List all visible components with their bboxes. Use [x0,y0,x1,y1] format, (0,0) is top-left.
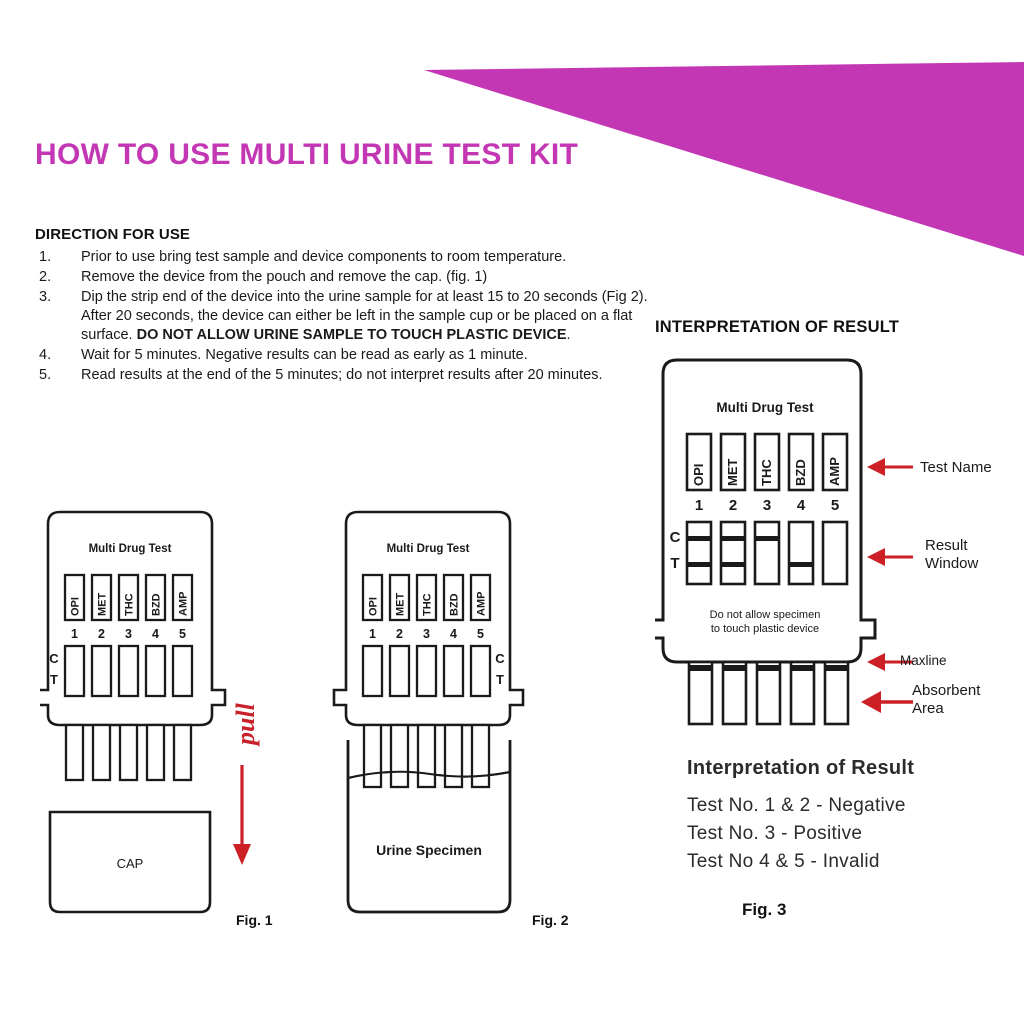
figure-3-caption: Fig. 3 [742,900,786,920]
step-text: Read results at the end of the 5 minutes… [81,366,655,385]
step-number: 5. [35,366,81,385]
test-marker: T [670,555,679,572]
specimen-label: Urine Specimen [376,842,482,858]
step-number: 4. [35,346,81,365]
result-window [65,646,84,696]
control-marker: C [49,651,59,666]
results-title: Interpretation of Result [687,757,914,780]
direction-step-1: 1. Prior to use bring test sample and de… [35,248,655,267]
absorbent-strip [418,725,435,787]
test-name-text: BZD [449,593,461,616]
callout-result-window-line2: Window [925,555,978,573]
step-text-tail: . [567,327,571,343]
figure-3-diagram: Multi Drug Test OPI MET THC BZD AMP 1 2 … [655,350,885,730]
step-text: Remove the device from the pouch and rem… [81,268,655,287]
absorbent-strip [689,662,712,724]
test-number: 1 [695,497,703,514]
directions-block: DIRECTION FOR USE 1. Prior to use bring … [35,226,655,386]
control-band [755,536,779,541]
test-band [687,562,711,567]
direction-step-2: 2. Remove the device from the pouch and … [35,268,655,287]
device-brand-label: Multi Drug Test [387,543,470,555]
arrow-left-icon [867,458,913,476]
pull-arrow-icon [233,765,251,865]
device-brand-label: Multi Drug Test [89,543,172,555]
callout-maxline: Maxline [900,653,947,669]
step-text: Dip the strip end of the device into the… [81,288,655,345]
cap-label: CAP [117,856,144,871]
result-windows [65,646,192,696]
directions-heading: DIRECTION FOR USE [35,226,655,243]
test-number: 5 [179,627,186,641]
test-number: 2 [729,497,737,514]
test-name-text: THC [759,459,774,486]
test-marker: T [50,672,58,687]
absorbent-strip [120,725,137,780]
interpretation-heading: INTERPRETATION OF RESULT [655,318,899,337]
callout-arrows [855,440,915,720]
absorbent-strip [757,662,780,724]
absorbent-strip [391,725,408,787]
absorbent-strip [472,725,489,787]
test-number: 4 [797,497,806,514]
absorbent-strips [66,725,191,780]
step-number: 3. [35,288,81,307]
test-name-text: AMP [827,457,842,486]
direction-step-4: 4. Wait for 5 minutes. Negative results … [35,346,655,365]
absorbent-strip [791,662,814,724]
direction-step-5: 5. Read results at the end of the 5 minu… [35,366,655,385]
callout-absorbent-area-line1: Absorbent [912,682,980,700]
test-name-text: OPI [368,597,380,616]
test-number: 3 [423,627,430,641]
control-marker: C [495,651,505,666]
test-name-text: BZD [793,459,808,486]
result-window [119,646,138,696]
device-brand-label: Multi Drug Test [716,400,814,415]
maxline-bar [791,665,814,671]
pull-label: pull [231,703,261,745]
absorbent-strip [445,725,462,787]
result-windows [687,522,847,584]
absorbent-strip [147,725,164,780]
test-marker: T [496,672,504,687]
arrow-left-icon [861,691,913,713]
callout-absorbent-area: Absorbent Area [912,682,980,717]
warning-line-1: Do not allow specimen [710,609,821,621]
callout-absorbent-area-line2: Area [912,700,980,718]
arrow-left-icon [867,548,913,566]
absorbent-strip [364,725,381,787]
test-number: 1 [71,627,78,641]
step-text-emphasis: DO NOT ALLOW URINE SAMPLE TO TOUCH PLAST… [137,327,567,343]
result-line-1: Test No. 1 & 2 - Negative [687,795,906,817]
callout-result-window: Result Window [925,537,978,572]
maxline-bar [757,665,780,671]
result-window [687,522,711,584]
warning-line-2: to touch plastic device [711,623,819,635]
step-text: Wait for 5 minutes. Negative results can… [81,346,655,365]
figure-2-caption: Fig. 2 [532,912,569,928]
result-window [721,522,745,584]
result-window [146,646,165,696]
result-line-3: Test No 4 & 5 - Invalid [687,851,880,873]
test-number: 2 [98,627,105,641]
test-name-text: MET [395,593,407,617]
result-window [471,646,490,696]
test-name-text: THC [422,593,434,616]
callout-test-name: Test Name [920,459,992,477]
test-band [789,562,813,567]
result-window [444,646,463,696]
test-number: 4 [152,627,159,641]
result-window [363,646,382,696]
control-band [721,536,745,541]
test-name-text: OPI [70,597,82,616]
page-title: HOW TO USE MULTI URINE TEST KIT [35,138,578,172]
absorbent-strip [174,725,191,780]
absorbent-strip [825,662,848,724]
test-name-text: MET [725,459,740,487]
absorbent-strip [723,662,746,724]
figure-2-diagram: Multi Drug Test OPI MET THC BZD AMP 1 2 … [330,500,590,920]
test-name-text: OPI [691,464,706,486]
test-number: 1 [369,627,376,641]
callout-result-window-line1: Result [925,537,978,555]
maxline-bar [825,665,848,671]
test-band [721,562,745,567]
step-number: 1. [35,248,81,267]
result-line-2: Test No. 3 - Positive [687,823,862,845]
test-number: 5 [477,627,484,641]
test-number: 4 [450,627,457,641]
result-window [789,522,813,584]
absorbent-strips [364,725,489,787]
absorbent-strip [93,725,110,780]
test-number: 3 [763,497,771,514]
instruction-sheet: HOW TO USE MULTI URINE TEST KIT DIRECTIO… [0,0,1024,1024]
test-name-text: THC [124,593,136,616]
result-window [755,522,779,584]
test-name-text: MET [97,593,109,617]
result-window [417,646,436,696]
result-window [390,646,409,696]
test-name-text: AMP [178,592,190,616]
figure-1-caption: Fig. 1 [236,912,273,928]
step-number: 2. [35,268,81,287]
result-window [173,646,192,696]
test-number: 3 [125,627,132,641]
maxline-bar [723,665,746,671]
test-number: 5 [831,497,839,514]
absorbent-strip [66,725,83,780]
test-name-text: BZD [151,593,163,616]
result-window [823,522,847,584]
result-window [92,646,111,696]
step-text: Prior to use bring test sample and devic… [81,248,655,267]
control-band [687,536,711,541]
control-marker: C [670,529,681,546]
test-name-text: AMP [476,592,488,616]
test-number: 2 [396,627,403,641]
maxline-bar [689,665,712,671]
absorbent-strips [689,662,848,724]
result-windows [363,646,490,696]
direction-step-3: 3. Dip the strip end of the device into … [35,288,655,345]
